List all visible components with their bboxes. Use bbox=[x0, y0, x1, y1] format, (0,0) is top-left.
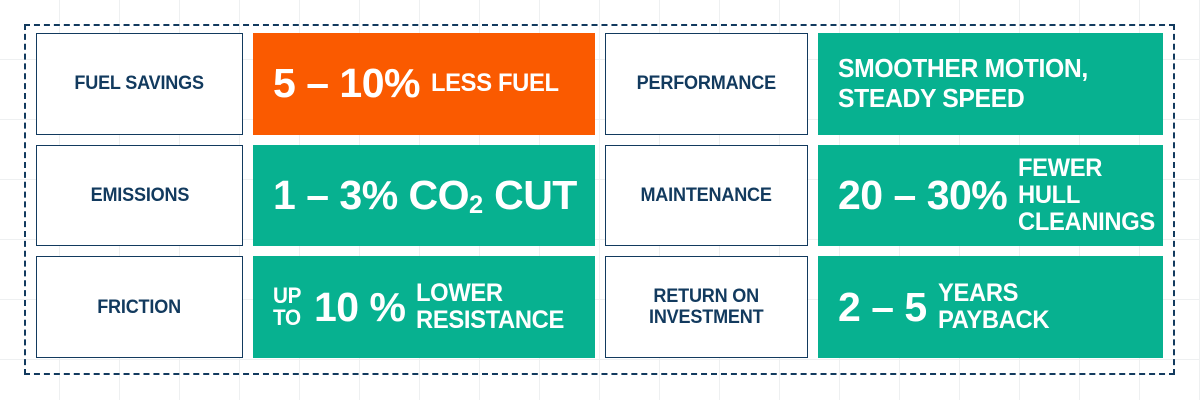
label-text: EMISSIONS bbox=[90, 185, 189, 206]
value-cell-performance: SMOOTHER MOTION, STEADY SPEED bbox=[818, 33, 1163, 135]
value-cell-friction: UP TO 10 % LOWER RESISTANCE bbox=[253, 256, 595, 358]
value-caption: LESS FUEL bbox=[431, 70, 559, 97]
value-content: 1 – 3% CO2 CUT bbox=[273, 175, 577, 216]
label-cell-emissions: EMISSIONS bbox=[36, 145, 243, 247]
value-prefix: UP TO bbox=[273, 285, 301, 330]
value-content: UP TO 10 % LOWER RESISTANCE bbox=[273, 280, 572, 334]
label-cell-fuel-savings: FUEL SAVINGS bbox=[36, 33, 243, 135]
value-content: 2 – 5 YEARS PAYBACK bbox=[838, 280, 1055, 334]
value-caption: LOWER RESISTANCE bbox=[416, 280, 564, 334]
value-content: 5 – 10% LESS FUEL bbox=[273, 63, 565, 104]
value-number: 5 – 10% bbox=[273, 63, 420, 104]
value-number: 1 – 3% CO2 CUT bbox=[273, 175, 577, 216]
label-text: RETURN ON INVESTMENT bbox=[649, 286, 763, 329]
benefits-grid: FUEL SAVINGS 5 – 10% LESS FUEL PERFORMAN… bbox=[36, 33, 1160, 358]
value-caption: SMOOTHER MOTION, STEADY SPEED bbox=[838, 54, 1088, 113]
value-number: 20 – 30% bbox=[838, 175, 1007, 216]
label-text: FRICTION bbox=[98, 297, 182, 318]
value-content: 20 – 30% FEWER HULL CLEANINGS bbox=[838, 155, 1162, 236]
value-number: 2 – 5 bbox=[838, 287, 927, 328]
label-cell-friction: FRICTION bbox=[36, 256, 243, 358]
label-text: MAINTENANCE bbox=[641, 185, 772, 206]
value-cell-return-on-investment: 2 – 5 YEARS PAYBACK bbox=[818, 256, 1163, 358]
value-caption: YEARS PAYBACK bbox=[938, 280, 1049, 334]
value-cell-emissions: 1 – 3% CO2 CUT bbox=[253, 145, 595, 247]
label-text: FUEL SAVINGS bbox=[75, 73, 204, 94]
label-cell-maintenance: MAINTENANCE bbox=[605, 145, 808, 247]
value-cell-fuel-savings: 5 – 10% LESS FUEL bbox=[253, 33, 595, 135]
label-cell-return-on-investment: RETURN ON INVESTMENT bbox=[605, 256, 808, 358]
infographic-canvas: FUEL SAVINGS 5 – 10% LESS FUEL PERFORMAN… bbox=[0, 0, 1200, 400]
value-number: 10 % bbox=[314, 287, 405, 328]
value-cell-maintenance: 20 – 30% FEWER HULL CLEANINGS bbox=[818, 145, 1163, 247]
label-text: PERFORMANCE bbox=[637, 73, 776, 94]
value-caption: FEWER HULL CLEANINGS bbox=[1018, 155, 1155, 236]
value-content: SMOOTHER MOTION, STEADY SPEED bbox=[838, 54, 1101, 113]
label-cell-performance: PERFORMANCE bbox=[605, 33, 808, 135]
